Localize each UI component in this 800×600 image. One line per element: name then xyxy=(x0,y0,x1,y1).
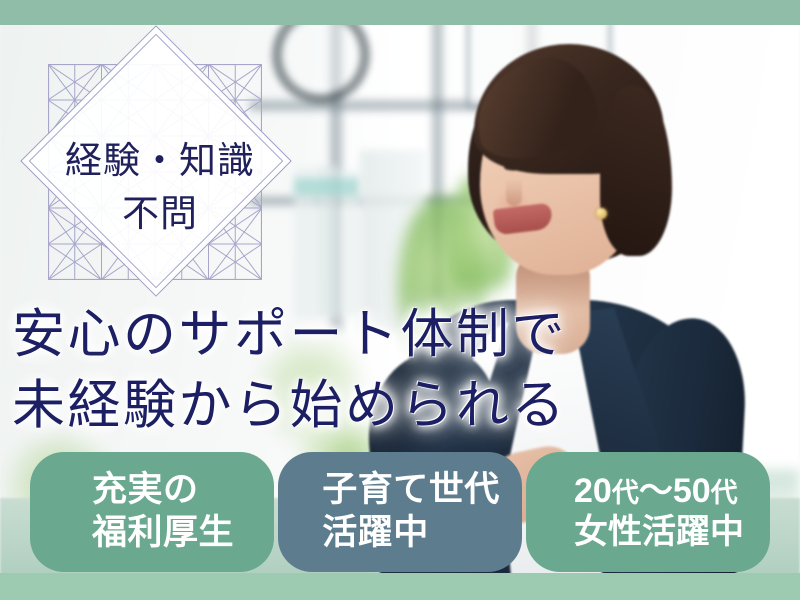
age-line2: 女性活躍中 xyxy=(574,513,744,551)
age-tilde: ～ xyxy=(639,472,673,510)
pill-benefits: 充実の 福利厚生 xyxy=(30,452,274,572)
age-unit-2: 代 xyxy=(711,478,738,508)
pill-age-range: 20代～50代女性活躍中 xyxy=(526,452,770,572)
pill-age-range-label: 20代～50代女性活躍中 xyxy=(574,471,744,554)
feature-pill-row: 充実の 福利厚生 子育て世代 活躍中 20代～50代女性活躍中 xyxy=(0,452,800,572)
age-unit-1: 代 xyxy=(612,478,639,508)
age-from: 20 xyxy=(574,472,612,510)
recruitment-banner: 経験・知識 不問 安心のサポート体制で 未経験から始められる 充実の 福利厚生 … xyxy=(0,0,800,600)
age-to: 50 xyxy=(673,472,711,510)
diamond-badge: 経験・知識 不問 xyxy=(0,18,320,318)
pill-benefits-label: 充実の 福利厚生 xyxy=(92,469,234,554)
headline-text: 安心のサポート体制で 未経験から始められる xyxy=(12,300,612,442)
bottom-accent-bar xyxy=(0,573,800,600)
pill-parenting: 子育て世代 活躍中 xyxy=(278,452,522,572)
badge-text: 経験・知識 不問 xyxy=(20,136,300,241)
nose xyxy=(506,178,522,206)
pill-parenting-label: 子育て世代 活躍中 xyxy=(322,469,500,554)
earring xyxy=(596,208,607,219)
